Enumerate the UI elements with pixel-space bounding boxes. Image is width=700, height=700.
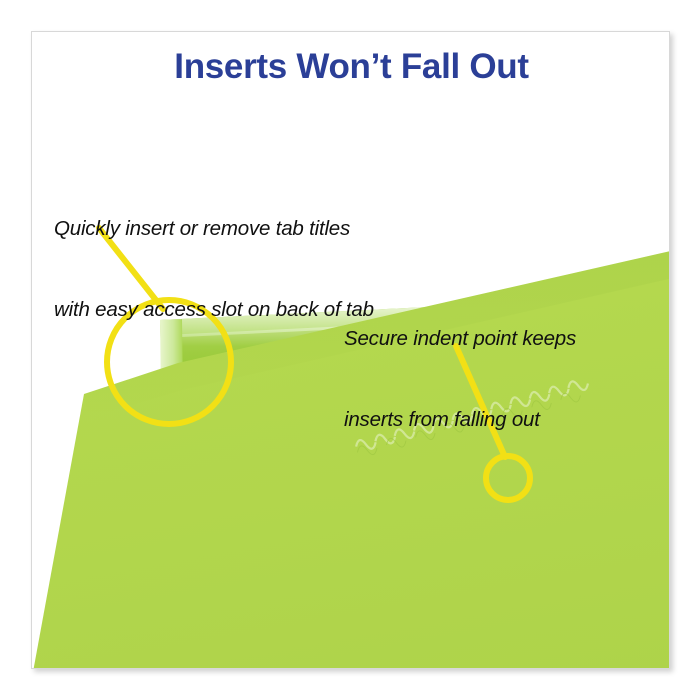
- page-title: Inserts Won’t Fall Out: [32, 48, 670, 87]
- callout-indent-point-line1: Secure indent point keeps: [344, 325, 576, 352]
- product-image-card: /* tab drawn upright above, rotated into…: [31, 31, 670, 669]
- callout-access-slot-line1: Quickly insert or remove tab titles: [54, 215, 374, 242]
- screenshot-root: /* tab drawn upright above, rotated into…: [0, 0, 700, 700]
- callout-access-slot: Quickly insert or remove tab titles with…: [54, 160, 374, 378]
- callout-indent-point-line2: inserts from falling out: [344, 406, 576, 433]
- callout-indent-point: Secure indent point keeps inserts from f…: [344, 270, 576, 488]
- callout-access-slot-line2: with easy access slot on back of tab: [54, 296, 374, 323]
